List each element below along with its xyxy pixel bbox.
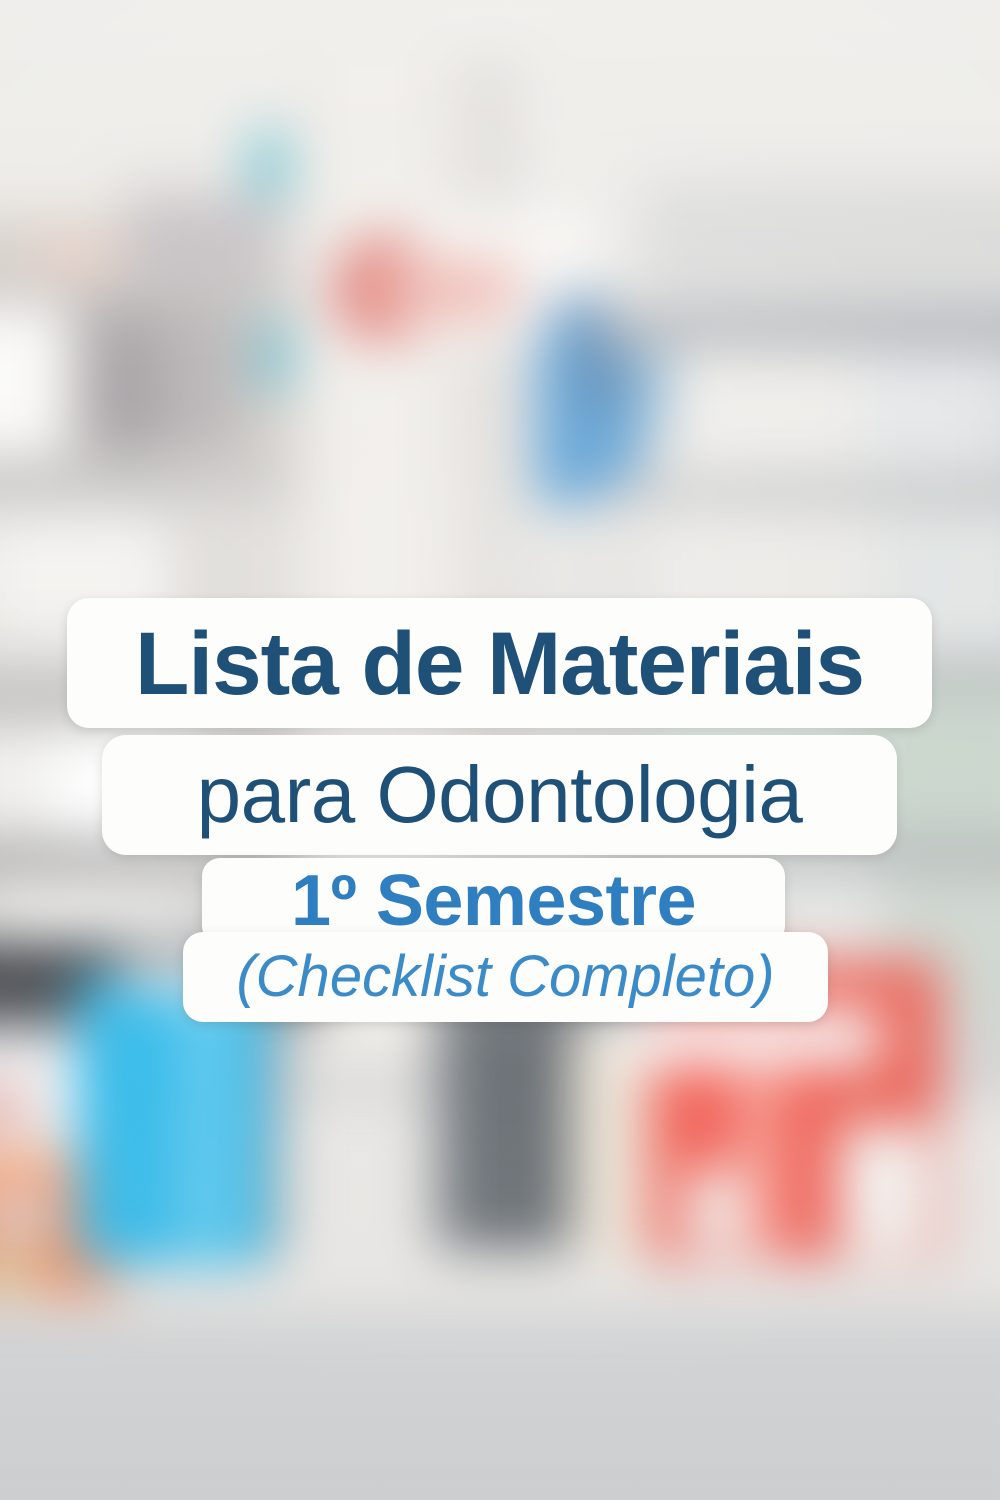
small-white-package [840, 1125, 930, 1255]
red-box-stripe [740, 1065, 778, 1260]
right-shelf-box [860, 350, 1000, 470]
left-shelf-dark-box [70, 305, 250, 455]
cyan-bottle-highlight [180, 990, 230, 1255]
title-line-1-card: Lista de Materiais [67, 598, 932, 728]
right-shelf-box [670, 350, 870, 470]
title-line-1-text: Lista de Materiais [135, 619, 864, 708]
left-shelf-box [30, 235, 120, 285]
floor-region [0, 1310, 1000, 1500]
left-shelf-box [130, 200, 280, 280]
title-line-2-text: para Odontologia [197, 755, 803, 835]
title-line-3-text: 1º Semestre [291, 865, 696, 937]
title-line-2-card: para Odontologia [102, 735, 897, 855]
right-shelf-rail [600, 310, 1000, 350]
left-shelf-dark-box [110, 320, 155, 450]
right-shelf-rail [600, 480, 1000, 506]
red-object-upper-accent [380, 260, 520, 320]
teal-tab-accent [255, 320, 293, 392]
orange-box-label [0, 1255, 35, 1287]
teal-tab-accent [248, 130, 290, 200]
title-line-4-card: (Checklist Completo) [183, 932, 828, 1022]
pin-canvas: Lista de Materiais para Odontologia 1º S… [0, 0, 1000, 1500]
small-white-package [685, 1170, 740, 1250]
orange-box-label [0, 1200, 50, 1235]
title-line-4-text: (Checklist Completo) [236, 948, 774, 1006]
